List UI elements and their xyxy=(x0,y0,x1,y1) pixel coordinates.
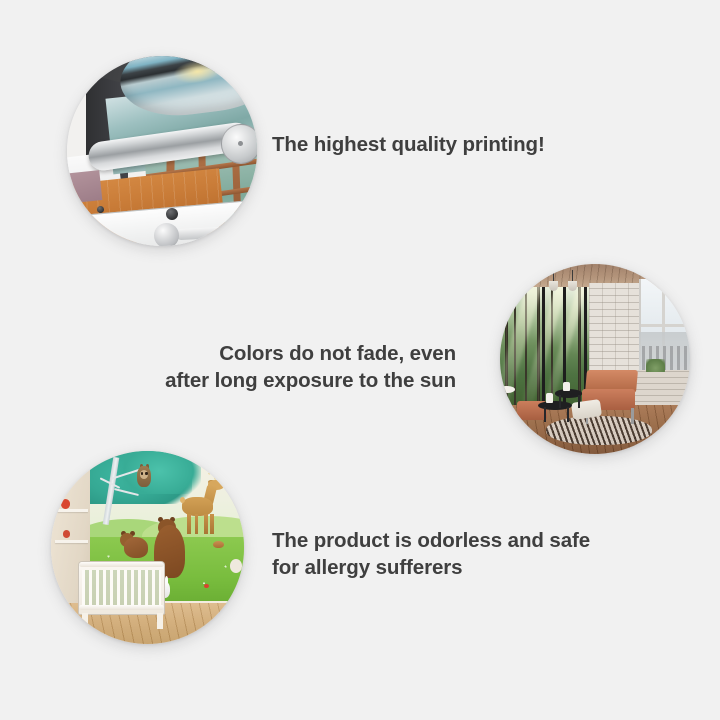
promo-page: The highest quality printing! Colors do … xyxy=(0,0,720,720)
baby-crib xyxy=(78,561,165,615)
table-leg xyxy=(578,395,580,408)
table-vase xyxy=(546,393,554,403)
feature-caption-quality-printing: The highest quality printing! xyxy=(272,131,545,158)
mural-acorn xyxy=(213,541,224,549)
pendant-lamp xyxy=(568,281,577,291)
roller-end-cap xyxy=(221,124,257,164)
table-leg xyxy=(544,407,546,422)
mural-deer-body xyxy=(182,497,213,516)
printing-press-scene xyxy=(67,56,257,246)
wall-shelf xyxy=(55,540,88,543)
nursery-animal-mural-photo xyxy=(51,451,244,644)
loft-interior-scene xyxy=(500,264,690,454)
feature-caption-odorless-and-safe: The product is odorless and safe for all… xyxy=(272,527,590,581)
nursery-scene xyxy=(51,451,244,644)
table-vase xyxy=(563,382,571,392)
wall-shelf xyxy=(55,509,88,512)
window-frame-bar xyxy=(542,287,545,409)
crib-bars xyxy=(82,570,162,605)
window-plant xyxy=(646,359,665,372)
mural-cub-body xyxy=(124,537,149,557)
shelf-toy xyxy=(63,530,71,538)
mural-deer-leg xyxy=(204,514,208,534)
shelf-toy xyxy=(61,499,71,509)
cowhide-rug xyxy=(546,416,652,445)
table-leg xyxy=(567,407,569,422)
crib-leg xyxy=(157,613,163,628)
printing-press-photo xyxy=(67,56,257,246)
crib-bottom-rail xyxy=(79,605,164,610)
loft-interior-forest-mural-photo xyxy=(500,264,690,454)
crib-top-rail xyxy=(79,562,164,567)
table-leg xyxy=(559,395,561,408)
feature-caption-colors-do-not-fade: Colors do not fade, even after long expo… xyxy=(140,340,456,394)
crib-leg xyxy=(82,613,88,628)
pendant-lamp xyxy=(549,281,558,291)
mural-deer-leg xyxy=(195,514,199,534)
mural-deer-leg xyxy=(187,514,191,534)
sofa-leg xyxy=(631,408,634,423)
machine-cylinder xyxy=(154,223,179,246)
mural-deer-leg xyxy=(210,514,214,534)
